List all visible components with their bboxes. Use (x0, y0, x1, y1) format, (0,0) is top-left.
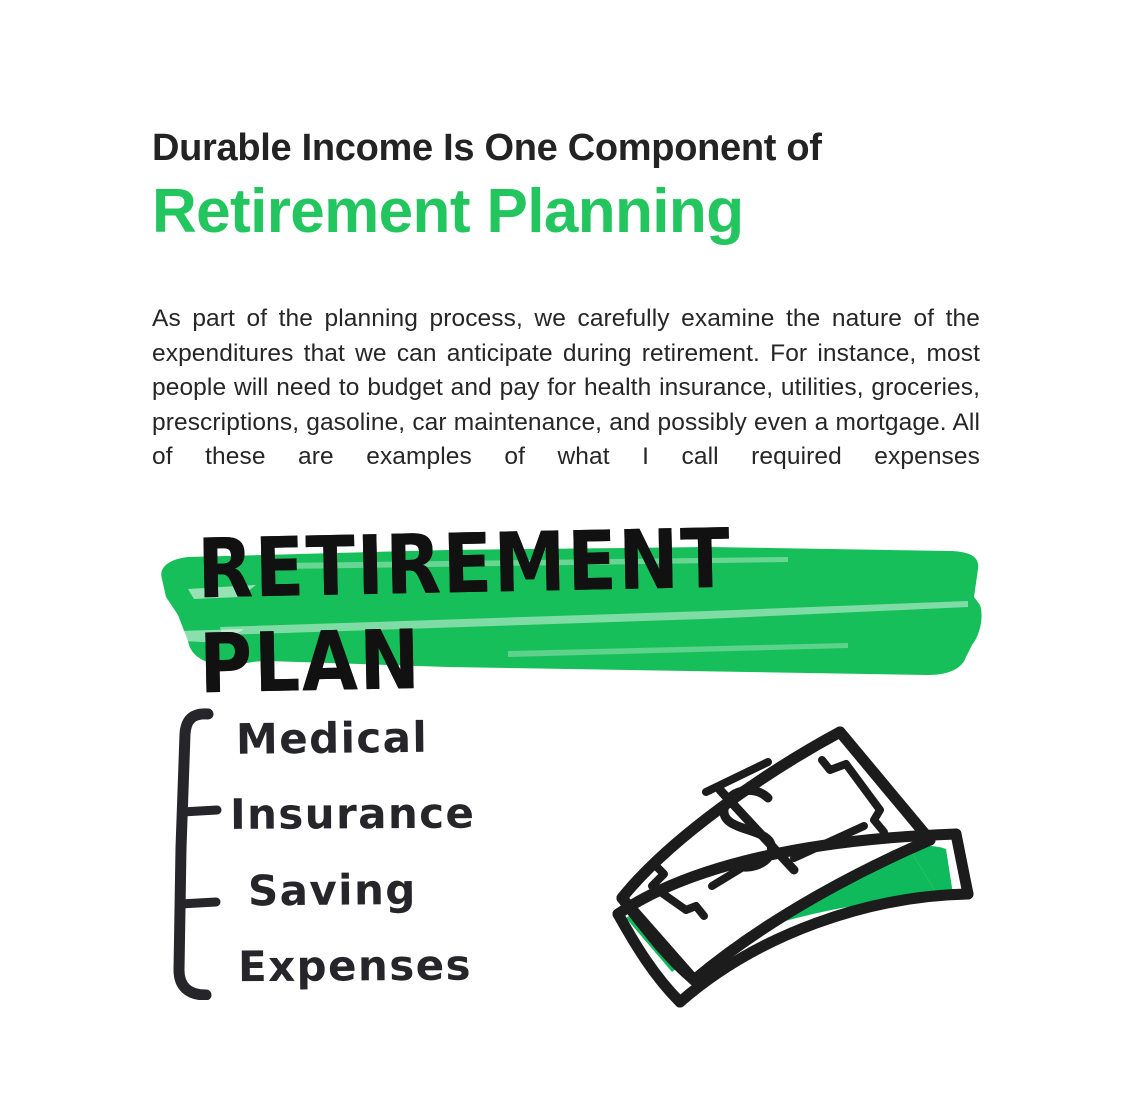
expense-list-items: Medical Insurance Saving Expenses (230, 700, 570, 1004)
hand-drawn-bracket-icon (172, 708, 234, 1000)
list-item: Expenses (238, 927, 571, 1005)
infographic-page: Durable Income Is One Component of Retir… (0, 0, 1130, 1118)
page-heading: Durable Income Is One Component of Retir… (152, 128, 982, 246)
retirement-plan-banner: RETIREMENT PLAN (148, 545, 988, 680)
expense-list: Medical Insurance Saving Expenses (172, 700, 572, 1010)
body-paragraph: As part of the planning process, we care… (152, 302, 980, 509)
heading-line-1: Durable Income Is One Component of (152, 128, 982, 169)
list-item: Insurance (230, 775, 570, 853)
list-item: Medical (236, 698, 571, 777)
heading-line-2: Retirement Planning (152, 177, 982, 246)
cash-banknotes-icon (608, 718, 983, 1018)
banner-label: RETIREMENT PLAN (197, 538, 939, 688)
list-item: Saving (248, 851, 571, 930)
